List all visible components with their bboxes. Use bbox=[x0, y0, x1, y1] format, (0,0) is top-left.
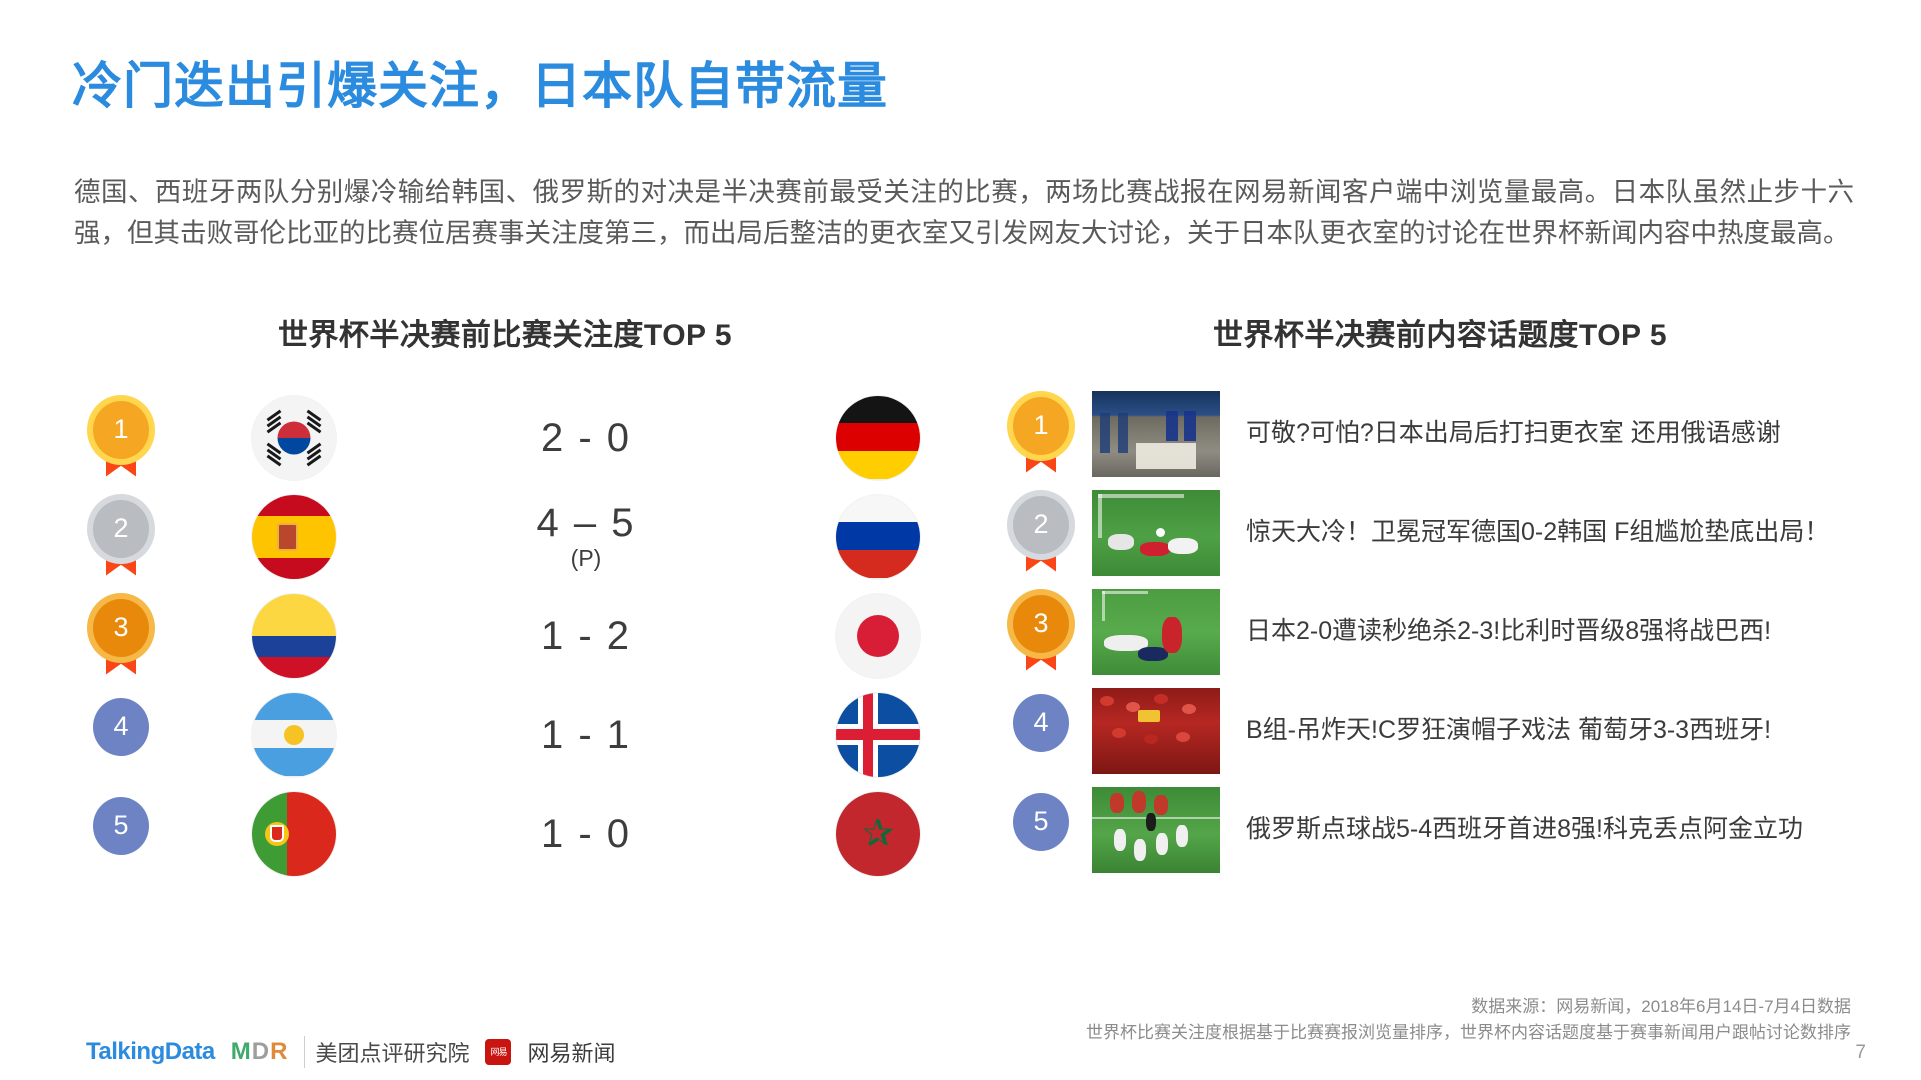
match-score: 4 – 5 (P) bbox=[336, 502, 836, 570]
rank-number: 2 bbox=[93, 500, 149, 558]
article-thumbnail-locker-room[interactable] bbox=[1092, 391, 1220, 477]
article-title[interactable]: 俄罗斯点球战5-4西班牙首进8强!科克丢点阿金立功 bbox=[1246, 811, 1803, 848]
score-value: 4 – 5 bbox=[537, 501, 636, 545]
rank-number: 1 bbox=[93, 401, 149, 459]
rank-badge-5: 5 bbox=[90, 797, 152, 871]
rank-number: 3 bbox=[1013, 595, 1069, 653]
right-panel-heading: 世界杯半决赛前内容话题度TOP 5 bbox=[1010, 310, 1870, 354]
meituan-research-logo: 美团点评研究院 bbox=[304, 1036, 469, 1068]
rank-badge-4: 4 bbox=[1010, 694, 1072, 768]
match-score: 2 - 0 bbox=[336, 417, 836, 459]
score-value: 1 - 0 bbox=[541, 812, 631, 856]
pentagram-icon: ✰ bbox=[862, 815, 894, 853]
table-row: 1 2 - 0 bbox=[90, 388, 920, 487]
match-score: 1 - 2 bbox=[336, 615, 836, 657]
table-row: 5 1 - 0 ✰ bbox=[90, 784, 920, 883]
taeguk-icon bbox=[278, 421, 311, 454]
rank-number: 5 bbox=[93, 797, 149, 855]
flag-morocco-icon: ✰ bbox=[836, 792, 920, 876]
article-thumbnail-pitch[interactable] bbox=[1092, 589, 1220, 675]
article-title[interactable]: 可敬?可怕?日本出局后打扫更衣室 还用俄语感谢 bbox=[1246, 415, 1781, 452]
data-source-note: 数据来源：网易新闻，2018年6月14日-7月4日数据 bbox=[1471, 992, 1851, 1017]
score-note: (P) bbox=[336, 546, 836, 570]
article-thumbnail-goal[interactable] bbox=[1092, 490, 1220, 576]
rank-badge-3: 3 bbox=[1010, 595, 1072, 669]
score-value: 1 - 2 bbox=[541, 614, 631, 658]
flag-russia-icon bbox=[836, 495, 920, 579]
content-topic-panel: 世界杯半决赛前内容话题度TOP 5 1 可敬?可怕?日本出局后打扫更衣室 还用俄… bbox=[1010, 310, 1870, 879]
spain-crest-icon bbox=[277, 523, 298, 551]
list-item[interactable]: 2 惊天大冷！卫冕冠军德国0-2韩国 F组尴尬垫底出局！ bbox=[1010, 483, 1870, 582]
article-title[interactable]: 惊天大冷！卫冕冠军德国0-2韩国 F组尴尬垫底出局！ bbox=[1246, 514, 1829, 551]
rank-number: 5 bbox=[1013, 793, 1069, 851]
flag-portugal-icon bbox=[252, 792, 336, 876]
flag-spain-icon bbox=[252, 495, 336, 579]
list-item[interactable]: 1 可敬?可怕?日本出局后打扫更衣室 还用俄语感谢 bbox=[1010, 384, 1870, 483]
article-thumbnail-crowd[interactable] bbox=[1092, 688, 1220, 774]
list-item[interactable]: 3 日本2-0遭读秒绝杀2-3!比利时晋级8强将战巴西! bbox=[1010, 582, 1870, 681]
flag-argentina-icon bbox=[252, 693, 336, 777]
rank-number: 3 bbox=[93, 599, 149, 657]
rank-number: 4 bbox=[93, 698, 149, 756]
rank-badge-3: 3 bbox=[90, 599, 152, 673]
list-item[interactable]: 4 B组-吊炸天!C罗狂演帽子戏法 葡萄牙3-3西班牙! bbox=[1010, 681, 1870, 780]
flag-iceland-icon bbox=[836, 693, 920, 777]
flag-south-korea-icon bbox=[252, 396, 336, 480]
match-score: 1 - 0 bbox=[336, 813, 836, 855]
intro-paragraph: 德国、西班牙两队分别爆冷输给韩国、俄罗斯的对决是半决赛前最受关注的比赛，两场比赛… bbox=[74, 172, 1854, 254]
table-row: 2 4 – 5 (P) bbox=[90, 487, 920, 586]
rank-number: 2 bbox=[1013, 496, 1069, 554]
flag-colombia-icon bbox=[252, 594, 336, 678]
score-value: 2 - 0 bbox=[541, 416, 631, 460]
flag-japan-icon bbox=[836, 594, 920, 678]
rank-badge-1: 1 bbox=[90, 401, 152, 475]
page-title: 冷门迭出引爆关注，日本队自带流量 bbox=[72, 58, 888, 116]
rank-badge-5: 5 bbox=[1010, 793, 1072, 867]
sun-of-may-icon bbox=[284, 725, 304, 745]
portugal-crest-icon bbox=[265, 822, 289, 846]
list-item[interactable]: 5 俄罗斯点球战5-4西班牙首进8强!科克丢点阿金立功 bbox=[1010, 780, 1870, 879]
match-attention-panel: 世界杯半决赛前比赛关注度TOP 5 1 2 - 0 bbox=[90, 310, 920, 883]
flag-germany-icon bbox=[836, 396, 920, 480]
table-row: 4 1 - 1 bbox=[90, 685, 920, 784]
netease-mark-icon: 网易 bbox=[485, 1039, 511, 1065]
talkingdata-logo: TalkingData bbox=[86, 1038, 215, 1066]
match-score: 1 - 1 bbox=[336, 714, 836, 756]
rank-badge-2: 2 bbox=[1010, 496, 1072, 570]
page-number: 7 bbox=[1855, 1042, 1866, 1064]
rank-number: 1 bbox=[1013, 397, 1069, 455]
hinomaru-icon bbox=[857, 615, 899, 657]
rank-badge-1: 1 bbox=[1010, 397, 1072, 471]
rank-number: 4 bbox=[1013, 694, 1069, 752]
netease-news-logo: 网易新闻 bbox=[527, 1036, 615, 1068]
rank-badge-2: 2 bbox=[90, 500, 152, 574]
article-thumbnail-celebration[interactable] bbox=[1092, 787, 1220, 873]
article-title[interactable]: 日本2-0遭读秒绝杀2-3!比利时晋级8强将战巴西! bbox=[1246, 613, 1771, 650]
footer-logos: TalkingData MDR 美团点评研究院 网易 网易新闻 bbox=[86, 1036, 615, 1068]
mdr-logo: MDR bbox=[231, 1038, 289, 1066]
methodology-note: 世界杯比赛关注度根据基于比赛赛报浏览量排序，世界杯内容话题度基于赛事新闻用户跟帖… bbox=[1086, 1018, 1851, 1043]
score-value: 1 - 1 bbox=[541, 713, 631, 757]
article-title[interactable]: B组-吊炸天!C罗狂演帽子戏法 葡萄牙3-3西班牙! bbox=[1246, 712, 1771, 749]
table-row: 3 1 - 2 bbox=[90, 586, 920, 685]
rank-badge-4: 4 bbox=[90, 698, 152, 772]
left-panel-heading: 世界杯半决赛前比赛关注度TOP 5 bbox=[90, 310, 920, 354]
